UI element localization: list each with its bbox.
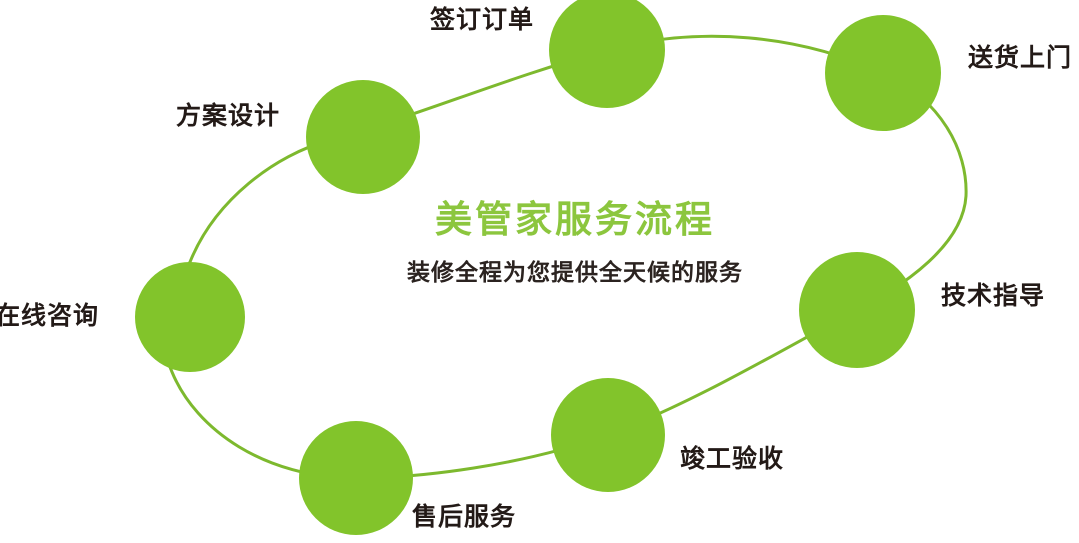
node-label-after-sales: 售后服务 <box>412 504 516 529</box>
center-text-block: 美管家服务流程 装修全程为您提供全天候的服务 <box>360 200 790 285</box>
node-label-completion-acceptance: 竣工验收 <box>680 446 784 471</box>
node-circle-after-sales[interactable] <box>299 421 413 535</box>
node-label-tech-guidance: 技术指导 <box>941 283 1045 308</box>
node-circle-tech-guidance[interactable] <box>799 252 915 368</box>
page-subtitle: 装修全程为您提供全天候的服务 <box>360 262 790 285</box>
node-circle-sign-order[interactable] <box>549 0 665 108</box>
node-circle-home-delivery[interactable] <box>825 15 941 131</box>
node-circle-online-consult[interactable] <box>135 262 245 372</box>
node-label-plan-design: 方案设计 <box>176 103 280 128</box>
node-circle-completion-acceptance[interactable] <box>551 378 665 492</box>
node-label-home-delivery: 送货上门 <box>968 45 1072 70</box>
node-label-sign-order: 签订订单 <box>430 7 534 32</box>
page-title: 美管家服务流程 <box>360 200 790 240</box>
node-label-online-consult: 在线咨询 <box>0 303 99 328</box>
node-circle-plan-design[interactable] <box>306 80 420 194</box>
flow-diagram-canvas: 在线咨询方案设计签订订单送货上门技术指导竣工验收售后服务 美管家服务流程 装修全… <box>0 0 1079 543</box>
